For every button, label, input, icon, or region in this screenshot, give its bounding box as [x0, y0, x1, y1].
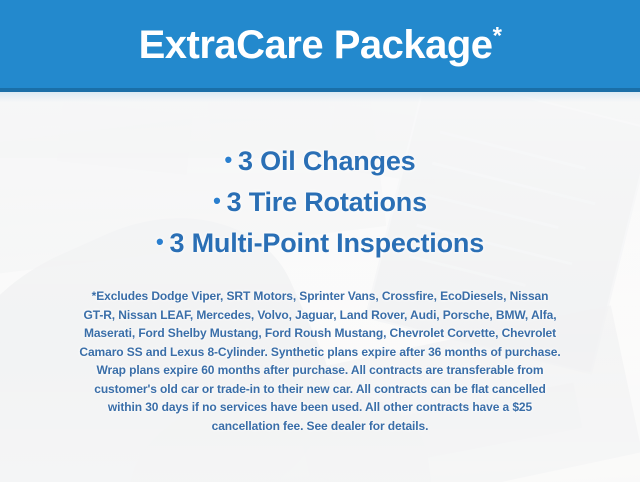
- page-title: ExtraCare Package*: [0, 20, 640, 70]
- fine-print-line: Wrap plans expire 60 months after purcha…: [24, 361, 616, 380]
- fine-print-line: customer's old car or trade-in to their …: [24, 380, 616, 399]
- fine-print-line: GT-R, Nissan LEAF, Mercedes, Volvo, Jagu…: [24, 306, 616, 325]
- benefit-item: •3 Multi-Point Inspections: [0, 222, 640, 263]
- benefits-list: •3 Oil Changes •3 Tire Rotations •3 Mult…: [0, 140, 640, 263]
- bullet-icon: •: [225, 147, 233, 172]
- fine-print-line: *Excludes Dodge Viper, SRT Motors, Sprin…: [24, 287, 616, 306]
- bullet-icon: •: [156, 229, 164, 254]
- benefit-item: •3 Tire Rotations: [0, 181, 640, 222]
- page-title-text: ExtraCare Package: [139, 23, 493, 67]
- page-title-asterisk: *: [493, 23, 502, 50]
- benefit-item-label: 3 Oil Changes: [238, 146, 415, 176]
- fine-print-line: cancellation fee. See dealer for details…: [24, 417, 616, 436]
- fine-print-line: Camaro SS and Lexus 8-Cylinder. Syntheti…: [24, 343, 616, 362]
- benefit-item-label: 3 Tire Rotations: [227, 187, 427, 217]
- extracare-promo-card: ExtraCare Package* •3 Oil Changes •3 Tir…: [0, 0, 640, 482]
- fine-print-block: *Excludes Dodge Viper, SRT Motors, Sprin…: [24, 287, 616, 435]
- fine-print-line: within 30 days if no services have been …: [24, 398, 616, 417]
- benefit-item: •3 Oil Changes: [0, 140, 640, 181]
- bullet-icon: •: [213, 188, 221, 213]
- fine-print-line: Maserati, Ford Shelby Mustang, Ford Rous…: [24, 324, 616, 343]
- benefit-item-label: 3 Multi-Point Inspections: [170, 228, 485, 258]
- header-glow: [0, 92, 640, 102]
